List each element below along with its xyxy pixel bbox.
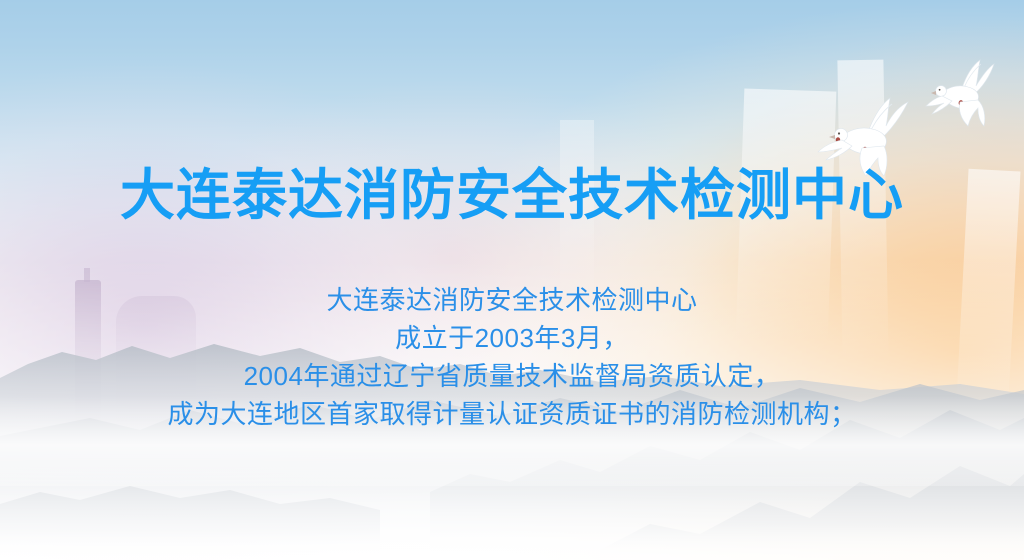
description-line-2: 成立于2003年3月， — [0, 319, 1024, 357]
description-line-4: 成为大连地区首家取得计量认证资质证书的消防检测机构； — [0, 395, 1024, 433]
dove-icon — [926, 60, 998, 130]
description-line-1: 大连泰达消防安全技术检测中心 — [0, 281, 1024, 319]
dove-right — [926, 60, 998, 130]
banner-slide: 大连泰达消防安全技术检测中心 大连泰达消防安全技术检测中心 成立于2003年3月… — [0, 0, 1024, 560]
page-title: 大连泰达消防安全技术检测中心 — [0, 163, 1024, 227]
description-line-3: 2004年通过辽宁省质量技术监督局资质认定， — [0, 357, 1024, 395]
description-block: 大连泰达消防安全技术检测中心 成立于2003年3月， 2004年通过辽宁省质量技… — [0, 281, 1024, 433]
